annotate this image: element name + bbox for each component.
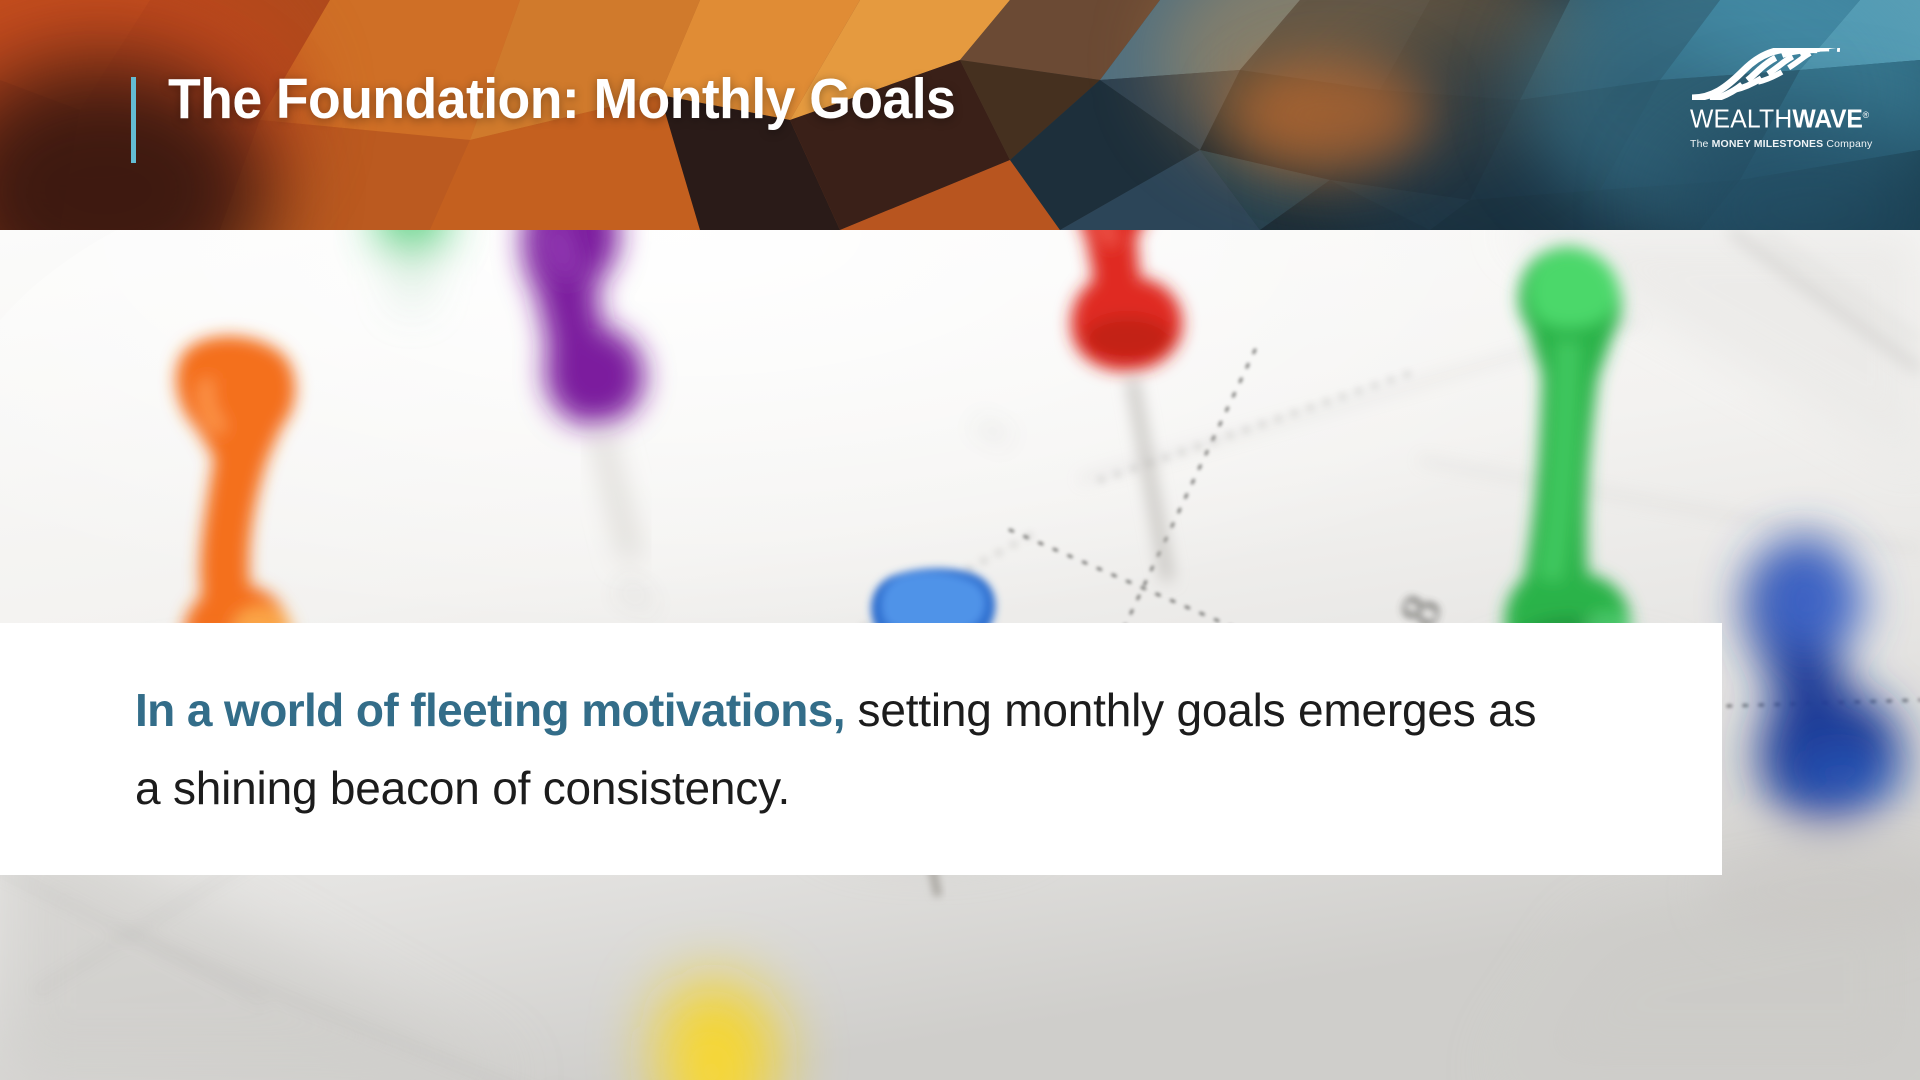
quote-lead: In a world of fleeting motivations, — [135, 684, 845, 736]
registered-trademark-icon: ® — [1863, 110, 1870, 120]
tagline-bold: MONEY MILESTONES — [1712, 138, 1824, 150]
title-accent-bar — [131, 77, 136, 163]
logo-word-light: WEALTH — [1690, 106, 1792, 134]
wealthwave-logo: WEALTHWAVE® The MONEY MILESTONES Company — [1690, 48, 1862, 151]
tagline-suffix: Company — [1823, 138, 1872, 150]
tagline-prefix: The — [1690, 138, 1712, 150]
logo-tagline: The MONEY MILESTONES Company — [1690, 138, 1862, 151]
wave-lines-icon — [1690, 48, 1858, 100]
quote-text: In a world of fleeting motivations, sett… — [0, 671, 1640, 827]
slide: The Foundation: Monthly Goals WEALTHWAVE… — [0, 0, 1920, 1080]
logo-word-bold: WAVE — [1792, 106, 1862, 134]
header-banner: The Foundation: Monthly Goals WEALTHWAVE… — [0, 0, 1920, 230]
page-title: The Foundation: Monthly Goals — [168, 60, 955, 138]
quote-card: In a world of fleeting motivations, sett… — [0, 623, 1722, 875]
logo-wordmark: WEALTHWAVE® — [1690, 102, 1857, 134]
